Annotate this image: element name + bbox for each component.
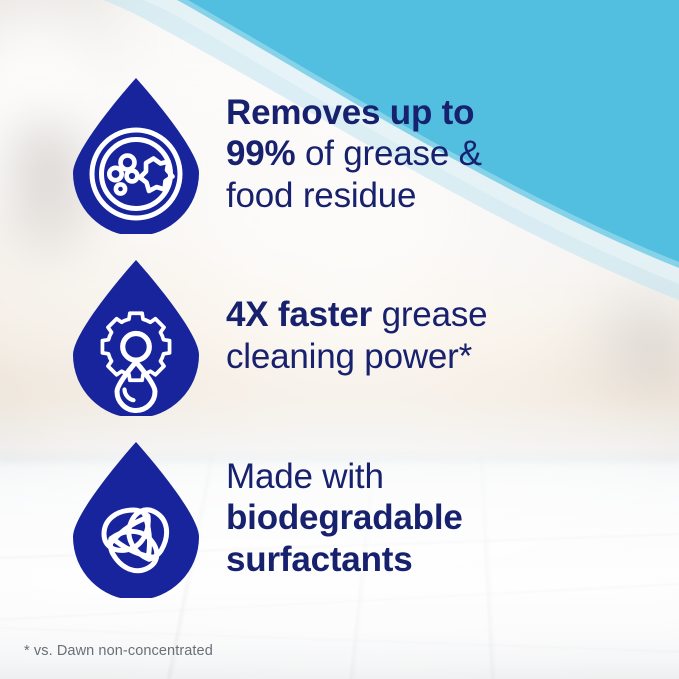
feature-1-line-1: Removes up to [226,93,474,132]
plate-with-bubbles-and-food-splat-icon [60,74,212,234]
feature-text-1: Removes up to 99% of grease & food resid… [226,92,620,217]
feature-3-line-1: Made with [226,457,384,496]
feature-text-3: Made with biodegradable surfactants [226,456,620,581]
three-leaves-recycle-icon [60,438,212,598]
feature-2-line-1-rest: grease [372,295,487,334]
droplet-badge-1 [60,74,212,234]
feature-3-line-3: surfactants [226,540,412,579]
feature-row-4x-faster: 4X faster grease cleaning power* [60,256,620,416]
gear-with-droplet-icon [60,256,212,416]
feature-2-bold: 4X faster [226,295,372,334]
background-dark-object-right-2 [640,320,679,415]
feature-1-line-2-rest: of grease & [295,134,481,173]
product-feature-infographic: Removes up to 99% of grease & food resid… [0,0,679,679]
feature-text-2: 4X faster grease cleaning power* [226,294,620,377]
feature-2-line-2: cleaning power* [226,337,472,376]
feature-3-line-2: biodegradable [226,498,463,537]
feature-row-biodegradable: Made with biodegradable surfactants [60,438,620,598]
feature-1-line-3: food residue [226,176,416,215]
footnote-disclaimer: * vs. Dawn non-concentrated [24,643,213,659]
droplet-badge-3 [60,438,212,598]
feature-row-removes-grease: Removes up to 99% of grease & food resid… [60,74,620,234]
feature-1-percent: 99% [226,134,295,173]
droplet-badge-2 [60,256,212,416]
